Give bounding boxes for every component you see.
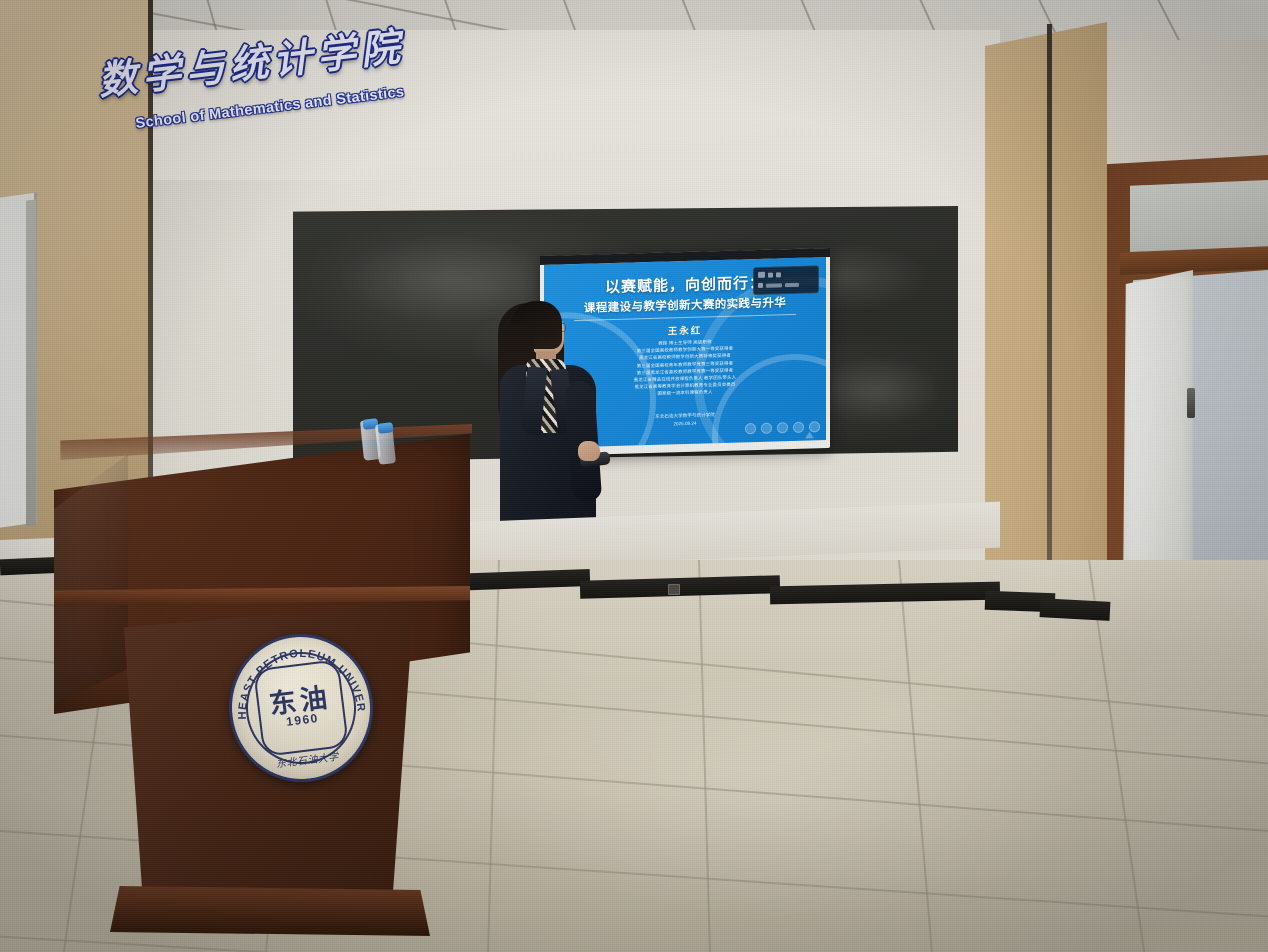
skirting-segment [580,575,780,599]
university-seal: NORTHEAST PETROLEUM UNIVERSITY 东油 1960 东… [221,626,382,790]
podium-base [110,886,430,936]
lecture-hall-scene: 以赛赋能，向创而行： 课程建设与教学创新大赛的实践与升华 王永红 教授 博士生导… [0,0,1268,952]
skirting-segment [770,582,1000,605]
skirting-segment [1040,598,1111,621]
wall-socket[interactable] [668,584,680,595]
bottle-cap [378,422,394,434]
